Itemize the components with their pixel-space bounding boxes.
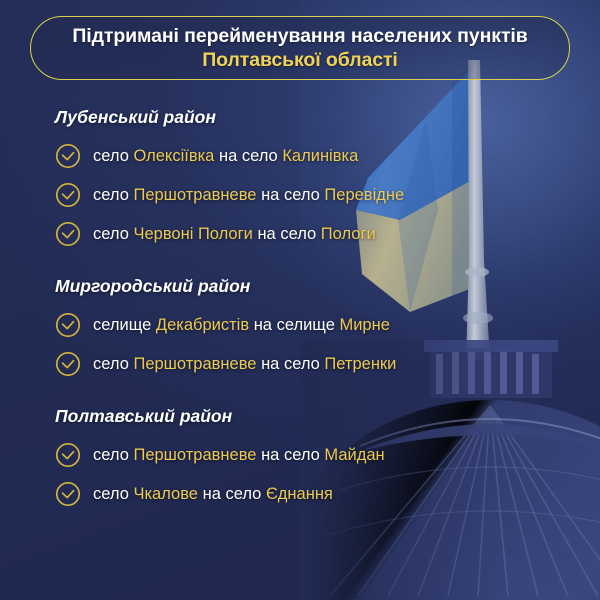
settlement-type-to: село <box>225 485 261 503</box>
renaming-text: селище Декабристів на селище Мирне <box>93 315 390 335</box>
old-name: Олексіївка <box>133 147 214 165</box>
new-name: Перевідне <box>324 186 404 204</box>
settlement-type-from: село <box>93 485 129 503</box>
settlement-type-from: село <box>93 147 129 165</box>
check-circle-icon <box>55 442 81 468</box>
connector: на <box>203 485 221 503</box>
new-name: Майдан <box>324 446 384 464</box>
district-section: Полтавський районсело Першотравневе на с… <box>0 403 600 513</box>
district-section: Миргородський районселище Декабристів на… <box>0 273 600 383</box>
renaming-text: село Чкалове на село Єднання <box>93 484 333 504</box>
settlement-type-from: село <box>93 225 129 243</box>
settlement-type-to: село <box>284 446 320 464</box>
new-name: Єднання <box>266 485 333 503</box>
renaming-text: село Першотравневе на село Петренки <box>93 354 396 374</box>
district-title: Миргородський район <box>55 273 600 299</box>
old-name: Червоні Пологи <box>133 225 252 243</box>
renaming-item: село Першотравневе на село Перевідне <box>55 175 600 214</box>
new-name: Пологи <box>321 225 376 243</box>
check-circle-icon <box>55 312 81 338</box>
old-name: Першотравневе <box>133 186 256 204</box>
connector: на <box>261 446 279 464</box>
renaming-text: село Першотравневе на село Майдан <box>93 445 385 465</box>
renaming-item: село Червоні Пологи на село Пологи <box>55 214 600 253</box>
renaming-item: село Олексіївка на село Калинівка <box>55 136 600 175</box>
connector: на <box>257 225 275 243</box>
new-name: Петренки <box>324 355 396 373</box>
renaming-text: село Першотравневе на село Перевідне <box>93 185 404 205</box>
districts-list: Лубенський районсело Олексіївка на село … <box>0 104 600 517</box>
district-section: Лубенський районсело Олексіївка на село … <box>0 104 600 253</box>
check-circle-icon <box>55 481 81 507</box>
connector: на <box>219 147 237 165</box>
settlement-type-to: селище <box>277 316 335 334</box>
settlement-type-to: село <box>280 225 316 243</box>
settlement-type-from: селище <box>93 316 151 334</box>
new-name: Мирне <box>339 316 389 334</box>
title-pill: Підтримані перейменування населених пунк… <box>30 16 570 80</box>
check-circle-icon <box>55 143 81 169</box>
connector: на <box>261 355 279 373</box>
check-circle-icon <box>55 351 81 377</box>
old-name: Першотравневе <box>133 446 256 464</box>
title-line-2: Полтавської області <box>202 48 398 72</box>
old-name: Декабристів <box>156 316 249 334</box>
district-title: Полтавський район <box>55 403 600 429</box>
renaming-text: село Червоні Пологи на село Пологи <box>93 224 376 244</box>
new-name: Калинівка <box>282 147 358 165</box>
settlement-type-from: село <box>93 186 129 204</box>
connector: на <box>254 316 272 334</box>
renaming-item: село Першотравневе на село Майдан <box>55 435 600 474</box>
settlement-type-from: село <box>93 355 129 373</box>
check-circle-icon <box>55 182 81 208</box>
connector: на <box>261 186 279 204</box>
settlement-type-to: село <box>242 147 278 165</box>
old-name: Чкалове <box>133 485 198 503</box>
old-name: Першотравневе <box>133 355 256 373</box>
renaming-item: село Першотравневе на село Петренки <box>55 344 600 383</box>
district-title: Лубенський район <box>55 104 600 130</box>
renaming-text: село Олексіївка на село Калинівка <box>93 146 358 166</box>
settlement-type-to: село <box>284 355 320 373</box>
settlement-type-to: село <box>284 186 320 204</box>
settlement-type-from: село <box>93 446 129 464</box>
title-line-1: Підтримані перейменування населених пунк… <box>72 24 527 48</box>
check-circle-icon <box>55 221 81 247</box>
renaming-item: село Чкалове на село Єднання <box>55 474 600 513</box>
renaming-item: селище Декабристів на селище Мирне <box>55 305 600 344</box>
poster: Підтримані перейменування населених пунк… <box>0 0 600 600</box>
